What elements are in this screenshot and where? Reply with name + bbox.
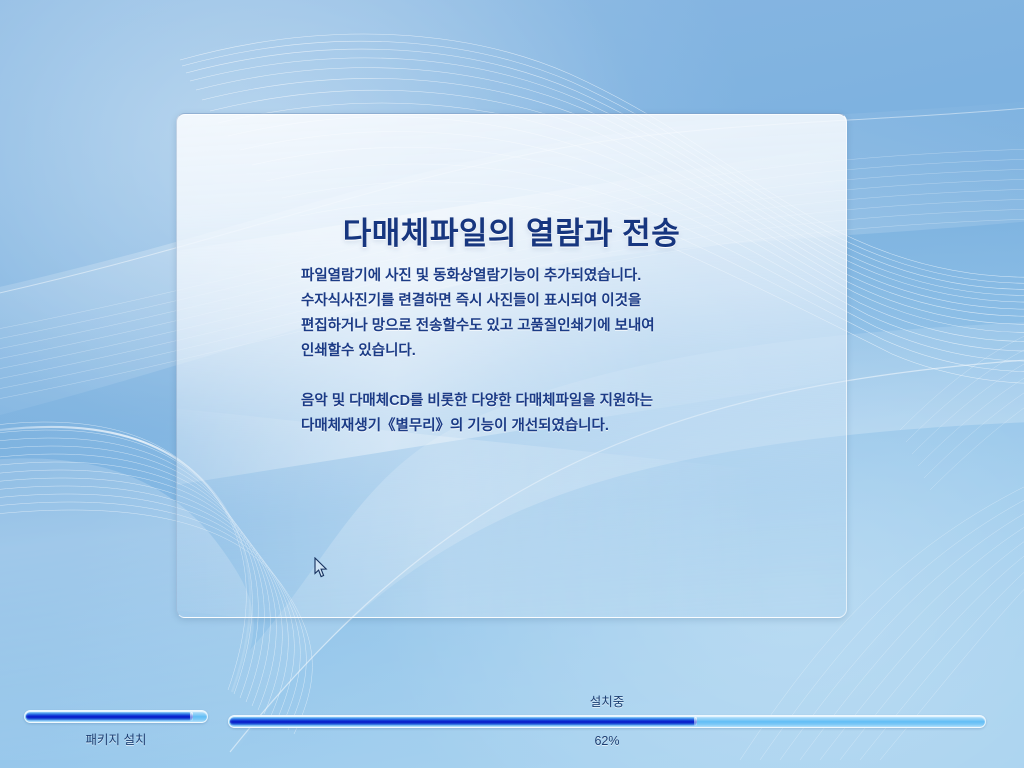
slide-paragraph: 음악 및 다매체CD를 비롯한 다양한 다매체파일을 지원하는 다매체재생기《별… (287, 389, 767, 439)
slide-line: 인쇄할수 있습니다. (287, 339, 767, 364)
package-progress-track (24, 710, 208, 723)
slide-line: 파일열람기에 사진 및 동화상열람기능이 추가되였습니다. (287, 264, 767, 289)
slide-body-text: 파일열람기에 사진 및 동화상열람기능이 추가되였습니다. 수자식사진기를 련결… (287, 264, 767, 439)
overall-progress-percent: 62% (228, 734, 986, 748)
overall-progress-track (228, 715, 986, 728)
package-progress-fill (26, 712, 193, 721)
slide-line: 수자식사진기를 련결하면 즉시 사진들이 표시되여 이것을 (287, 289, 767, 314)
slide-line: 음악 및 다매체CD를 비롯한 다양한 다매체파일을 지원하는 (287, 389, 767, 414)
installer-slideshow-screen: 다매체파일의 열람과 전송 파일열람기에 사진 및 동화상열람기능이 추가되였습… (0, 0, 1024, 768)
package-progress-group: 패키지 설치 (24, 710, 208, 748)
slide-line: 다매체재생기《별무리》의 기능이 개선되였습니다. (287, 414, 767, 439)
slide-title: 다매체파일의 열람과 전송 (177, 208, 846, 253)
overall-progress-fill (230, 717, 697, 726)
overall-progress-group: 설치중 62% (228, 691, 986, 748)
package-progress-label: 패키지 설치 (24, 729, 208, 748)
progress-area: 패키지 설치 설치중 62% (0, 688, 1024, 768)
slide-line: 편집하거나 망으로 전송할수도 있고 고품질인쇄기에 보내여 (287, 314, 767, 339)
overall-progress-status: 설치중 (228, 691, 986, 710)
slide-paragraph: 파일열람기에 사진 및 동화상열람기능이 추가되였습니다. 수자식사진기를 련결… (287, 264, 767, 364)
slide-panel: 다매체파일의 열람과 전송 파일열람기에 사진 및 동화상열람기능이 추가되였습… (176, 113, 847, 618)
